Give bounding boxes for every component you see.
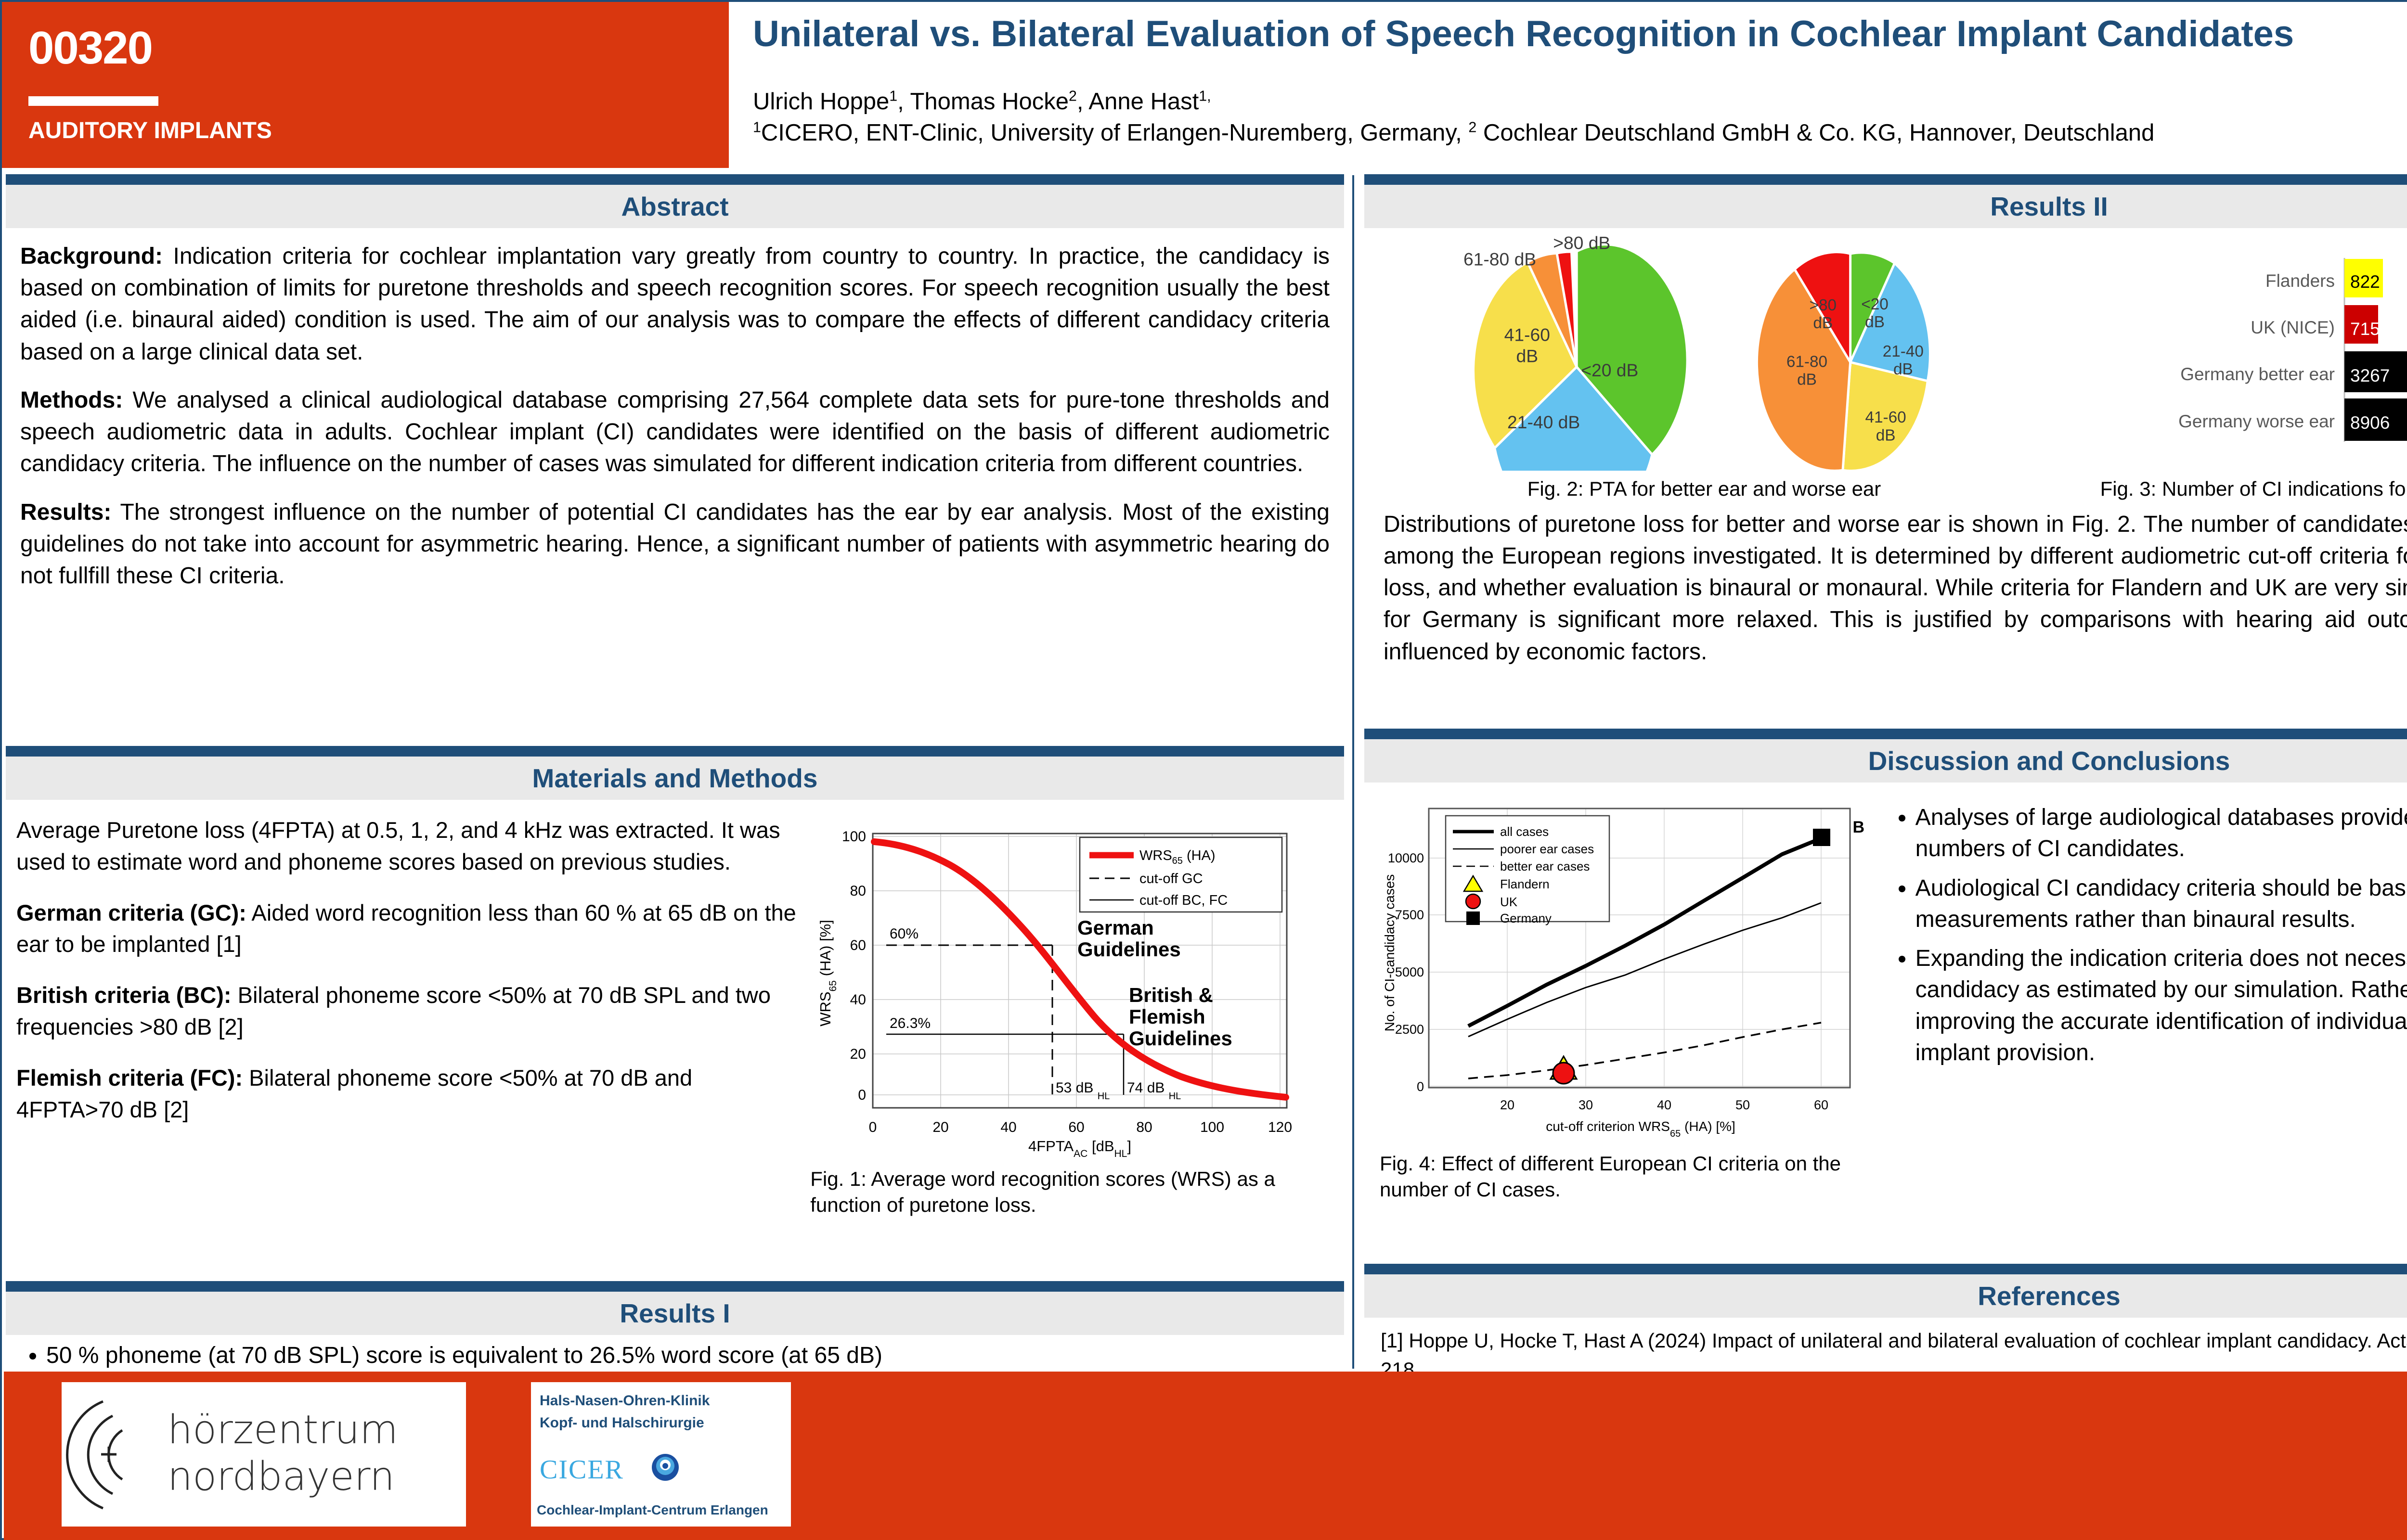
- right-column: Results II: [1364, 174, 2407, 1466]
- svg-text:dB: dB: [1865, 313, 1885, 331]
- fig3-value-germany-better: 3267: [2350, 366, 2390, 385]
- fig3-cat-flanders: Flanders: [2265, 271, 2335, 291]
- fig3-cat-germany-worse: Germany worse ear: [2178, 411, 2335, 431]
- fig4-ytick-0: 0: [1417, 1079, 1424, 1094]
- figure-2-container: <20 dB 21-40 dB 41-60 dB 61-80 dB >80 dB: [1372, 235, 2036, 502]
- fig1-ytick-20: 20: [850, 1046, 866, 1062]
- panel-topbar: [1364, 174, 2407, 185]
- logo-hoerzentrum: hörzentrum nordbayern: [62, 1382, 466, 1527]
- fig3-value-flanders: 822: [2350, 272, 2380, 292]
- fig1-ytick-40: 40: [850, 992, 866, 1008]
- section-title-results2: Results II: [1990, 191, 2108, 222]
- abstract-results: Results: The strongest influence on the …: [20, 497, 1330, 592]
- fig2b-slice-label-61-80: 61-80: [1786, 353, 1827, 371]
- author-affiliations: 1CICERO, ENT-Clinic, University of Erlan…: [753, 117, 2407, 149]
- fig4-xtick-40: 40: [1657, 1098, 1671, 1112]
- cicero-clinic-line1: Hals-Nasen-Ohren-Klinik: [540, 1393, 710, 1409]
- fig2a-leader-label-61-80: 61-80 dB: [1463, 249, 1536, 269]
- author-list: Ulrich Hoppe1, Thomas Hocke2, Anne Hast1…: [753, 86, 2407, 149]
- section-title-references: References: [1978, 1281, 2121, 1311]
- panel-header-results2: Results II: [1364, 185, 2407, 228]
- panel-header-references: References: [1364, 1274, 2407, 1318]
- svg-text:dB: dB: [1893, 360, 1913, 378]
- abstract-background-label: Background:: [20, 244, 163, 269]
- panel-topbar: [6, 174, 1344, 185]
- fig1-xtick-20: 20: [933, 1119, 949, 1135]
- panel-discussion: Discussion and Conclusions: [1364, 729, 2407, 1264]
- fig3-value-uk: 715: [2350, 319, 2380, 339]
- panel-results-2: Results II: [1364, 174, 2407, 729]
- fig3-value-germany-worse: 8906: [2350, 413, 2390, 433]
- cicero-spiral-icon: [650, 1452, 680, 1482]
- figure-3-container: Flanders 822 UK (NICE) 715 Germany bette…: [2036, 235, 2407, 502]
- fig4-xtick-30: 30: [1579, 1098, 1593, 1112]
- criteria-flemish-label: Flemish criteria (FC):: [16, 1065, 243, 1091]
- svg-text:Flemish: Flemish: [1129, 1005, 1205, 1028]
- fig2a-slice-label-21-40: 21-40 dB: [1507, 412, 1580, 432]
- fig2a-slice-label-41-60: 41-60: [1504, 325, 1550, 345]
- poster-number-box: 00320 AUDITORY IMPLANTS: [2, 2, 729, 168]
- cicero-centre-line: Cochlear-Implant-Centrum Erlangen: [537, 1502, 768, 1518]
- fig1-xtick-0: 0: [869, 1119, 877, 1135]
- fig1-ytick-0: 0: [858, 1087, 867, 1103]
- fig2b-slice-label-gt80: >80: [1810, 296, 1837, 314]
- fig4-ytick-10000: 10000: [1388, 851, 1424, 865]
- fig3-cat-uk: UK (NICE): [2251, 318, 2335, 337]
- list-item: Analyses of large audiological databases…: [1915, 802, 2407, 865]
- panel-header-materials: Materials and Methods: [6, 757, 1344, 800]
- fig2-pie-worse-ear: >80 dB <20 dB 21-40 dB 41-60 dB 61-80 dB: [1757, 252, 1930, 471]
- criteria-german: German criteria (GC): Aided word recogni…: [16, 897, 799, 961]
- section-title-materials: Materials and Methods: [532, 763, 818, 794]
- fig3-cat-germany-better: Germany better ear: [2180, 364, 2335, 384]
- logo-cicero: Hals-Nasen-Ohren-Klinik Kopf- und Halsch…: [531, 1382, 791, 1527]
- fig1-annot-british: British &: [1129, 984, 1213, 1006]
- figure-2-caption: Fig. 2: PTA for better ear and worse ear: [1372, 476, 2036, 502]
- figure-3-chart: Flanders 822 UK (NICE) 715 Germany bette…: [2036, 235, 2407, 471]
- svg-text:dB: dB: [1516, 346, 1539, 366]
- fig2a-slice-label-lt20: <20 dB: [1581, 360, 1638, 380]
- fig1-legend: WRS65 (HA) cut-off GC cut-off BC, FC: [1080, 837, 1282, 912]
- cicero-clinic-line2: Kopf- und Halschirurgie: [540, 1415, 704, 1431]
- fig1-xtick-40: 40: [1001, 1119, 1017, 1135]
- fig2b-slice-label-21-40: 21-40: [1883, 343, 1924, 360]
- figure-4-container: 10000 7500 5000 2500 0 20 30 40: [1364, 783, 1875, 1203]
- page-title: Unilateral vs. Bilateral Evaluation of S…: [753, 13, 2407, 54]
- poster-root: 00320 AUDITORY IMPLANTS Unilateral vs. B…: [0, 0, 2407, 1540]
- fig4-legend-poorer: poorer ear cases: [1500, 842, 1594, 856]
- criteria-british: British criteria (BC): Bilateral phoneme…: [16, 979, 799, 1043]
- figure-2-chart: <20 dB 21-40 dB 41-60 dB 61-80 dB >80 dB: [1372, 235, 2027, 471]
- panel-body-materials: Average Puretone loss (4FPTA) at 0.5, 1,…: [6, 800, 1344, 1281]
- fig4-legend-circle-icon: [1466, 894, 1480, 909]
- panel-body-abstract: Background: Indication criteria for coch…: [6, 228, 1344, 746]
- panel-topbar: [6, 1281, 1344, 1292]
- fig4-xtick-20: 20: [1500, 1098, 1514, 1112]
- column-divider: [1352, 175, 1354, 1369]
- fig4-marker-uk: [1553, 1063, 1574, 1084]
- fig4-ytick-5000: 5000: [1395, 965, 1424, 979]
- fig4-legend-flandern: Flandern: [1500, 877, 1550, 891]
- panel-abstract: Abstract Background: Indication criteria…: [6, 174, 1344, 746]
- fig4-ylabel: No. of CI-candidacy cases: [1382, 874, 1397, 1032]
- fig2-pie-better-ear: <20 dB 21-40 dB 41-60 dB: [1474, 244, 1687, 471]
- abstract-methods: Methods: We analysed a clinical audiolog…: [20, 385, 1330, 480]
- fig4-xtick-60: 60: [1814, 1098, 1828, 1112]
- fig2b-slice-label-41-60: 41-60: [1865, 409, 1906, 426]
- section-title-discussion: Discussion and Conclusions: [1868, 745, 2230, 776]
- fig1-ytick-80: 80: [850, 883, 866, 899]
- section-title-abstract: Abstract: [621, 191, 728, 222]
- abstract-results-label: Results:: [20, 500, 111, 525]
- fig4-legend: all cases poorer ear cases better ear ca…: [1446, 816, 1609, 925]
- svg-text:dB: dB: [1797, 371, 1817, 389]
- fig1-annot-60pct: 60%: [890, 926, 919, 942]
- materials-intro: Average Puretone loss (4FPTA) at 0.5, 1,…: [16, 814, 799, 878]
- poster-number: 00320: [28, 25, 152, 71]
- fig1-xtick-60: 60: [1069, 1119, 1085, 1135]
- criteria-flemish: Flemish criteria (FC): Bilateral phoneme…: [16, 1062, 799, 1126]
- fig1-annot-german: German: [1077, 916, 1154, 939]
- fig4-ytick-2500: 2500: [1395, 1022, 1424, 1037]
- panel-materials-methods: Materials and Methods Average Puretone l…: [6, 746, 1344, 1281]
- poster-header: 00320 AUDITORY IMPLANTS Unilateral vs. B…: [2, 2, 2407, 168]
- hoerzentrum-line1: hörzentrum: [168, 1407, 398, 1454]
- materials-text-block: Average Puretone loss (4FPTA) at 0.5, 1,…: [16, 814, 799, 1218]
- abstract-background: Background: Indication criteria for coch…: [20, 241, 1330, 368]
- figure-1-chart: 100 80 60 40 20 0 0 20 40: [805, 814, 1316, 1161]
- panel-body-results2: <20 dB 21-40 dB 41-60 dB 61-80 dB >80 dB: [1364, 228, 2407, 729]
- fig1-annot-26pct: 26.3%: [890, 1015, 931, 1031]
- poster-footer: hörzentrum nordbayern Hals-Nasen-Ohren-K…: [4, 1372, 2407, 1540]
- section-title-results1: Results I: [620, 1298, 730, 1329]
- fig1-xtick-80: 80: [1137, 1119, 1152, 1135]
- panel-topbar: [1364, 1264, 2407, 1274]
- panel-topbar: [1364, 729, 2407, 739]
- svg-text:dB: dB: [1813, 314, 1833, 332]
- figure-1-caption: Fig. 1: Average word recognition scores …: [805, 1166, 1333, 1218]
- fig4-legend-better: better ear cases: [1500, 859, 1590, 873]
- list-item: Expanding the indication criteria does n…: [1915, 943, 2407, 1068]
- fig4-corner-label: B: [1852, 818, 1864, 836]
- svg-text:Guidelines: Guidelines: [1077, 938, 1181, 961]
- panel-header-discussion: Discussion and Conclusions: [1364, 739, 2407, 783]
- figure-4-chart: 10000 7500 5000 2500 0 20 30 40: [1371, 789, 1872, 1145]
- criteria-british-label: British criteria (BC):: [16, 982, 232, 1008]
- fig1-xtick-120: 120: [1268, 1119, 1292, 1135]
- figure-4-caption: Fig. 4: Effect of different European CI …: [1371, 1151, 1875, 1203]
- fig1-legend-gc: cut-off GC: [1139, 871, 1203, 886]
- fig1-ytick-100: 100: [842, 829, 866, 845]
- fig4-ytick-7500: 7500: [1395, 908, 1424, 922]
- panel-topbar: [6, 746, 1344, 757]
- hoerzentrum-line2: nordbayern: [168, 1454, 398, 1501]
- fig4-legend-germany: Germany: [1500, 911, 1552, 925]
- fig4-marker-germany: [1813, 829, 1830, 846]
- results2-paragraph: Distributions of puretone loss for bette…: [1384, 509, 2407, 668]
- figure-3-caption: Fig. 3: Number of CI indications for dif…: [2036, 476, 2407, 502]
- fig4-xtick-50: 50: [1735, 1098, 1750, 1112]
- cicero-wordmark: CICER: [540, 1454, 624, 1485]
- figure-1-container: 100 80 60 40 20 0 0 20 40: [799, 814, 1333, 1218]
- hoerzentrum-wordmark: hörzentrum nordbayern: [168, 1407, 398, 1501]
- abstract-methods-label: Methods:: [20, 387, 123, 413]
- fig1-legend-bcfc: cut-off BC, FC: [1139, 893, 1228, 908]
- fig2a-leader-label-gt80: >80 dB: [1553, 235, 1610, 253]
- left-column: Abstract Background: Indication criteria…: [6, 174, 1344, 1475]
- panel-header-abstract: Abstract: [6, 185, 1344, 228]
- list-item: 50 % phoneme (at 70 dB SPL) score is equ…: [46, 1340, 1330, 1371]
- panel-header-results1: Results I: [6, 1292, 1344, 1335]
- svg-text:Guidelines: Guidelines: [1129, 1027, 1232, 1050]
- discussion-bullet-list: Analyses of large audiological databases…: [1875, 783, 2407, 1068]
- fig4-legend-all: all cases: [1500, 824, 1549, 839]
- list-item: Audiological CI candidacy criteria shoul…: [1915, 873, 2407, 936]
- panel-body-discussion: 10000 7500 5000 2500 0 20 30 40: [1364, 783, 2407, 1264]
- fig4-legend-uk: UK: [1500, 895, 1518, 909]
- fig4-legend-square-icon: [1466, 911, 1480, 925]
- poster-category: AUDITORY IMPLANTS: [28, 117, 272, 144]
- fig2b-slice-label-lt20: <20: [1861, 295, 1889, 313]
- fig1-ytick-60: 60: [850, 937, 866, 953]
- header-rule: [28, 96, 158, 106]
- svg-text:dB: dB: [1876, 426, 1896, 444]
- author-names: Ulrich Hoppe1, Thomas Hocke2, Anne Hast1…: [753, 86, 2407, 117]
- fig1-xtick-100: 100: [1200, 1119, 1224, 1135]
- criteria-german-label: German criteria (GC):: [16, 900, 246, 925]
